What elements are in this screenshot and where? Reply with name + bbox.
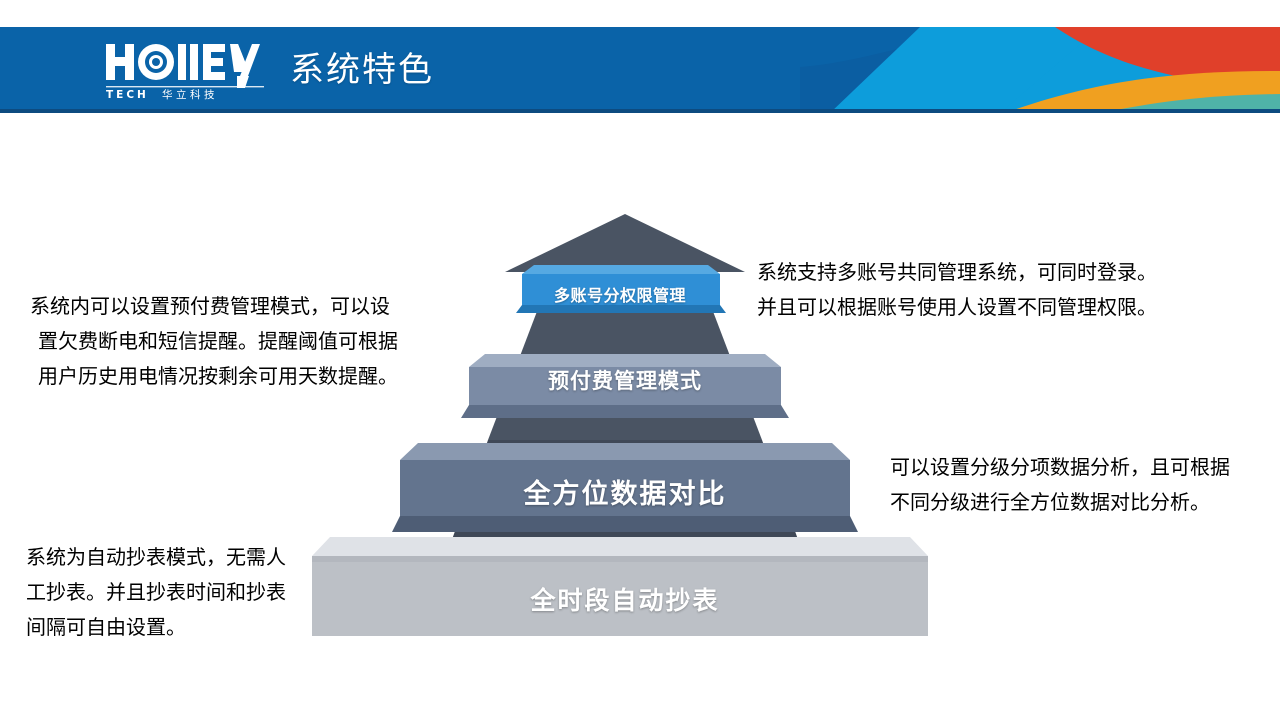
tier-4-top-face — [312, 537, 928, 556]
tier-4-label: 全时段自动抄表 — [320, 581, 930, 617]
tier-4-edge-shade — [312, 556, 928, 562]
tier-2-bottom-shade — [461, 405, 789, 418]
tier-3-label: 全方位数据对比 — [400, 472, 850, 511]
callout-meter-line-2: 工抄表。并且抄表时间和抄表 — [26, 575, 286, 610]
callout-comparison-line-1: 可以设置分级分项数据分析，且可根据 — [890, 450, 1230, 485]
tier-1-bottom-shade — [516, 305, 726, 313]
callout-prepaid-line-2: 置欠费断电和短信提醒。提醒阈值可根据 — [30, 324, 398, 359]
tier-1-label: 多账号分权限管理 — [520, 282, 720, 306]
callout-prepaid-management: 系统内可以设置预付费管理模式，可以设 置欠费断电和短信提醒。提醒阈值可根据 用户… — [30, 289, 398, 394]
callout-data-comparison: 可以设置分级分项数据分析，且可根据 不同分级进行全方位数据对比分析。 — [890, 450, 1230, 520]
callout-multi-account: 系统支持多账号共同管理系统，可同时登录。 并且可以根据账号使用人设置不同管理权限… — [757, 255, 1157, 325]
callout-prepaid-line-3: 用户历史用电情况按剩余可用天数提醒。 — [30, 359, 398, 394]
callout-meter-line-3: 间隔可自由设置。 — [26, 610, 286, 645]
tier-1-top-face — [522, 265, 720, 274]
tier-3-bottom-shade — [392, 516, 858, 532]
callout-auto-meter-reading: 系统为自动抄表模式，无需人 工抄表。并且抄表时间和抄表 间隔可自由设置。 — [26, 540, 286, 645]
callout-account-line-1: 系统支持多账号共同管理系统，可同时登录。 — [757, 255, 1157, 290]
tier-2-label: 预付费管理模式 — [465, 365, 785, 395]
callout-prepaid-line-1: 系统内可以设置预付费管理模式，可以设 — [30, 289, 398, 324]
tier-3-top-face — [400, 443, 850, 460]
callout-meter-line-1: 系统为自动抄表模式，无需人 — [26, 540, 286, 575]
slide-root: TECH 华立科技 系统特色 — [0, 0, 1280, 720]
callout-account-line-2: 并且可以根据账号使用人设置不同管理权限。 — [757, 290, 1157, 325]
callout-comparison-line-2: 不同分级进行全方位数据对比分析。 — [890, 485, 1230, 520]
